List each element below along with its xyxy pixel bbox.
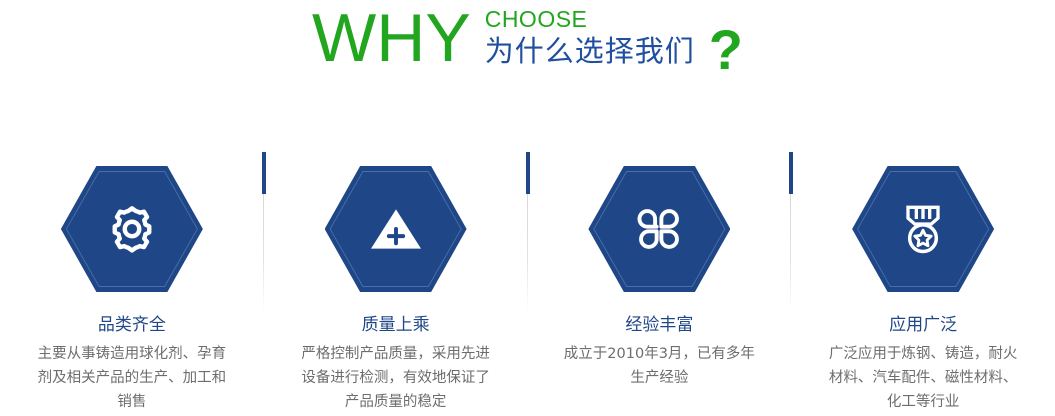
feature-card[interactable]: 质量上乘 严格控制产品质量，采用先进设备进行检测，有效地保证了产品质量的稳定 [264,150,528,416]
feature-card-title: 质量上乘 [362,314,430,336]
feature-card[interactable]: 应用广泛 广泛应用于炼钢、铸造，耐火材料、汽车配件、磁性材料、化工等行业 [791,150,1055,416]
feature-card-description: 严格控制产品质量，采用先进设备进行检测，有效地保证了产品质量的稳定 [296,342,496,414]
feature-card-row: 品类齐全 主要从事铸造用球化剂、孕育剂及相关产品的生产、加工和销售 [0,150,1055,416]
feature-card[interactable]: 经验丰富 成立于2010年3月，已有多年生产经验 [528,150,792,416]
header-question-mark: ? [709,2,743,80]
section-header: WHY CHOOSE 为什么选择我们 ? [0,0,1055,90]
hexagon-badge [325,166,467,292]
feature-card-title: 应用广泛 [889,314,957,336]
feature-card-title: 品类齐全 [98,314,166,336]
medal-icon [852,166,994,292]
feature-card-description: 成立于2010年3月，已有多年生产经验 [559,342,759,390]
why-choose-us-section: WHY CHOOSE 为什么选择我们 ? [0,0,1055,416]
triangle-plus-icon [325,166,467,292]
header-inner: WHY CHOOSE 为什么选择我们 ? [312,0,743,80]
feature-card-description: 主要从事铸造用球化剂、孕育剂及相关产品的生产、加工和销售 [32,342,232,414]
hexagon-badge [61,166,203,292]
header-text-group: CHOOSE 为什么选择我们 [485,2,695,68]
feature-card-description: 广泛应用于炼钢、铸造，耐火材料、汽车配件、磁性材料、化工等行业 [823,342,1023,414]
feature-card[interactable]: 品类齐全 主要从事铸造用球化剂、孕育剂及相关产品的生产、加工和销售 [0,150,264,416]
clover-icon [588,166,730,292]
gear-icon [61,166,203,292]
feature-card-title: 经验丰富 [625,314,693,336]
hexagon-badge [588,166,730,292]
header-choose-label: CHOOSE [485,7,588,32]
header-why-label: WHY [312,2,471,74]
hexagon-badge [852,166,994,292]
header-chinese-title: 为什么选择我们 [485,34,695,68]
